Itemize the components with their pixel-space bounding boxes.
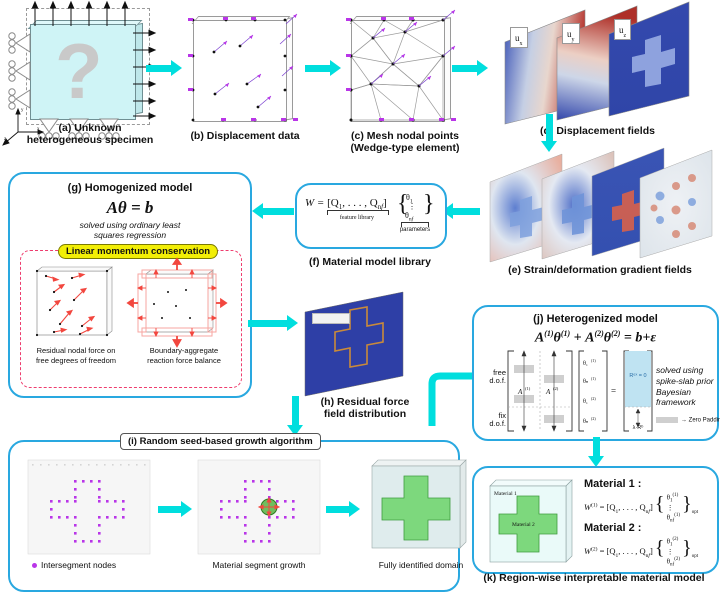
- intersegment-node-swatch: [32, 563, 37, 568]
- panel-k-material1-row: Material 1 : W(1) = [Q1, . . . , Qnf] { …: [584, 478, 698, 524]
- arrow-e-to-f: [442, 200, 480, 222]
- k-m1-opt: opt: [692, 510, 698, 515]
- f-feature-vector: [Q1, . . . , Qnf]: [327, 197, 387, 209]
- f-feat-close: ]: [383, 197, 387, 209]
- svg-text:y: y: [21, 108, 24, 113]
- panel-k-caption: (k) Region-wise interpretable material m…: [470, 572, 718, 584]
- panel-a-unknown-specimen: ?: [0, 0, 180, 160]
- boundary-reaction-force-diagram: [128, 260, 236, 344]
- panel-g-sub1-caption-line2: free degrees of freedom: [20, 356, 132, 365]
- arrow-i-step1-to-step2: [158, 499, 192, 519]
- f-theta-dots: ⋮: [408, 202, 416, 211]
- panel-b-caption: (b) Displacement data: [175, 130, 315, 142]
- arrow-h-to-i: [284, 396, 306, 436]
- svg-text:(1): (1): [525, 386, 531, 391]
- field-label-uy-sub: y: [572, 37, 575, 43]
- panel-g-homogenized-model: (g) Homogenized model Aθ = b solved usin…: [8, 172, 252, 398]
- panel-j-equation: A(1)θ(1) + A(2)θ(2) = b+ε: [474, 329, 717, 347]
- linear-momentum-badge: Linear momentum conservation: [58, 244, 218, 259]
- displacement-field-planes: [485, 2, 720, 127]
- panel-j-free-dof-label: freed.o.f.: [480, 369, 506, 385]
- panel-g-sub1-caption-line1: Residual nodal force on: [20, 346, 132, 355]
- panel-c-caption-line2: (Wedge-type element): [335, 142, 475, 154]
- panel-i-step2-caption: Material segment growth: [192, 560, 326, 570]
- arrow-j-to-k: [585, 437, 607, 467]
- k-m1-close: ]: [650, 502, 653, 512]
- j-eq-a1: A: [535, 331, 544, 346]
- panel-c-mesh-nodal-points: (c) Mesh nodal points (Wedge-type elemen…: [343, 4, 468, 159]
- panel-i-growth-algorithm: (i) Random seed-based growth algorithm: [8, 440, 460, 592]
- svg-text:(1): (1): [591, 358, 596, 363]
- j-eq-eps: ε: [650, 331, 656, 346]
- arrow-c-to-d: [452, 57, 488, 79]
- panel-g-title: (g) Homogenized model: [10, 182, 250, 194]
- panel-j-rhs-bot-label: λ·Rᵇ: [626, 425, 650, 431]
- j-eq-a1sup: (1): [544, 329, 553, 338]
- panel-i-title: (i) Random seed-based growth algorithm: [120, 433, 321, 450]
- svg-text:(2): (2): [553, 386, 559, 391]
- f-theta-n: θnf: [405, 211, 413, 223]
- j-eq-equals: =: [624, 331, 632, 346]
- k-m2-mid: , . . . , Q: [618, 546, 645, 556]
- panel-b-displacement-vectors: [185, 4, 305, 129]
- k-m1-eq: = [Q: [600, 502, 616, 512]
- arrow-i-step2-to-step3: [326, 499, 360, 519]
- field-label-ux: ux: [510, 27, 528, 48]
- f-feat-mid: , . . . , Q: [342, 197, 377, 209]
- panel-d-displacement-fields: ux uy uz (d) Displacement fields: [485, 2, 720, 142]
- panel-j-solved-line3: Bayesian framework: [656, 387, 717, 407]
- svg-text:=: =: [611, 386, 616, 396]
- arrow-a-to-b: [146, 57, 182, 79]
- panel-j-matrix-schematic: A (1) A (2) θ₁ (1) θₙ (1) θ₁ (2) θₙ (2) …: [504, 349, 649, 434]
- k-m2-eq: = [Q: [600, 546, 616, 556]
- k-material2-equation: W(2) = [Q1, . . . , Qnf] { θ1(2) ⋮ θnf(2…: [584, 536, 698, 568]
- k-m2-wsup: (2): [591, 546, 597, 552]
- panel-f-equation: W = [Q1, . . . , Qnf] feature library: [305, 197, 387, 211]
- zero-padding-text: → Zero Padding: [681, 418, 720, 424]
- svg-text:(2): (2): [591, 416, 596, 421]
- growth-step1-intersegment-nodes: [28, 460, 150, 554]
- panel-g-solved-line1: solved using ordinary least: [10, 220, 250, 230]
- panel-i-legend-text: Intersegment nodes: [41, 560, 116, 570]
- arrow-b-to-c: [305, 57, 341, 79]
- j-eq-t1sup: (1): [561, 329, 570, 338]
- arrow-d-to-e: [538, 114, 560, 152]
- arrow-g-to-h: [248, 312, 298, 334]
- j-eq-t2: θ: [604, 331, 611, 346]
- k-material1-title: Material 1 :: [584, 478, 698, 490]
- top-load-arrows: [30, 2, 140, 26]
- residual-plate-colorbar-label: [312, 313, 350, 324]
- panel-k-material2-row: Material 2 : W(2) = [Q1, . . . , Qnf] { …: [584, 522, 698, 568]
- panel-a-caption-line1: (a) Unknown: [0, 122, 180, 134]
- k-m1-wsup: (1): [591, 502, 597, 508]
- arrow-f-to-g: [252, 200, 294, 222]
- panel-f-material-model-library: W = [Q1, . . . , Qnf] feature library { …: [295, 183, 447, 249]
- residual-nodal-force-diagram: [32, 266, 118, 342]
- panel-j-title: (j) Heterogenized model: [474, 313, 717, 325]
- k-m2-pdots: ⋮: [667, 548, 674, 556]
- j-eq-plus: +: [574, 331, 582, 346]
- panel-b-displacement-data: (b) Displacement data: [185, 4, 305, 154]
- f-under-feature: feature library: [327, 215, 387, 221]
- panel-h-caption-line1: (h) Residual force: [295, 396, 435, 408]
- unknown-question-mark: ?: [55, 26, 103, 117]
- k-m1-mid: , . . . , Q: [618, 502, 645, 512]
- svg-text:A: A: [545, 388, 551, 396]
- k-material1-box-label: Material 1: [494, 491, 517, 497]
- svg-text:θₙ: θₙ: [583, 379, 589, 385]
- growth-step2-segment-growth: [198, 460, 320, 554]
- panel-h-caption-line2: field distribution: [295, 408, 435, 420]
- j-eq-t2sup: (2): [611, 329, 620, 338]
- k-m2-opt: opt: [692, 554, 698, 559]
- field-label-ux-sub: x: [520, 41, 523, 47]
- growth-step3-identified-domain: [366, 454, 476, 554]
- j-fix-l2: d.o.f.: [489, 419, 506, 428]
- k-material2-title: Material 2 :: [584, 522, 698, 534]
- panel-g-sub2-caption-line1: Boundary-aggregate: [132, 346, 236, 355]
- f-under-param: parameters: [391, 227, 439, 233]
- panel-d-caption: (d) Displacement fields: [540, 125, 720, 137]
- svg-text:θ₁: θ₁: [583, 361, 588, 367]
- panel-k-material-specimen: Material 1 Material 2: [484, 476, 576, 564]
- panel-e-strain-fields: (e) Strain/deformation gradient fields: [480, 148, 720, 293]
- k-m1-pdots: ⋮: [667, 504, 674, 512]
- panel-i-legend: Intersegment nodes: [32, 560, 116, 570]
- panel-k-region-wise-model: Material 1 Material 2 Material 1 : W(1) …: [472, 466, 719, 574]
- strain-field-planes: [480, 148, 720, 268]
- field-label-uz: uz: [614, 19, 631, 40]
- field-label-uz-sub: z: [624, 33, 627, 39]
- panel-j-rhs-top-label: Rᵉˣ = 0: [626, 373, 650, 379]
- panel-f-caption: (f) Material model library: [290, 256, 450, 268]
- k-material2-box-label: Material 2: [512, 522, 535, 528]
- svg-text:(2): (2): [591, 396, 596, 401]
- panel-j-solved-line1: solved using: [656, 365, 703, 375]
- f-feat-open: [Q: [327, 197, 339, 209]
- j-eq-a2sup: (2): [594, 329, 603, 338]
- panel-j-fix-dof-label: fixd.o.f.: [480, 412, 506, 428]
- svg-text:(1): (1): [591, 376, 596, 381]
- svg-text:θ₁: θ₁: [583, 399, 588, 405]
- svg-text:A: A: [517, 388, 523, 396]
- panel-c-caption-line1: (c) Mesh nodal points: [335, 130, 475, 142]
- f-W-lhs: W =: [305, 197, 324, 209]
- panel-e-caption: (e) Strain/deformation gradient fields: [480, 264, 720, 276]
- k-m2-close: ]: [650, 546, 653, 556]
- panel-g-sub2-caption-line2: reaction force balance: [132, 356, 236, 365]
- field-label-uy: uy: [562, 23, 580, 44]
- panel-j-solved-line2: spike-slab prior: [656, 376, 714, 386]
- k-material1-equation: W(1) = [Q1, . . . , Qnf] { θ1(1) ⋮ θnf(1…: [584, 492, 698, 524]
- panel-g-solved-line2: squares regression: [10, 230, 250, 240]
- svg-text:θₙ: θₙ: [583, 419, 589, 425]
- residual-force-plate: [295, 288, 435, 400]
- zero-padding-swatch: [656, 417, 678, 423]
- j-eq-t1: θ: [554, 331, 561, 346]
- panel-c-triangular-mesh: [343, 4, 468, 129]
- panel-j-heterogenized-model: (j) Heterogenized model A(1)θ(1) + A(2)θ…: [472, 305, 719, 441]
- panel-i-step3-caption: Fully identified domain: [360, 560, 482, 570]
- panel-j-zero-padding-legend: → Zero Padding: [656, 417, 720, 424]
- j-free-l2: d.o.f.: [489, 376, 506, 385]
- panel-g-equation: Aθ = b: [10, 198, 250, 218]
- panel-a-caption-line2: heterogeneous specimen: [0, 134, 180, 146]
